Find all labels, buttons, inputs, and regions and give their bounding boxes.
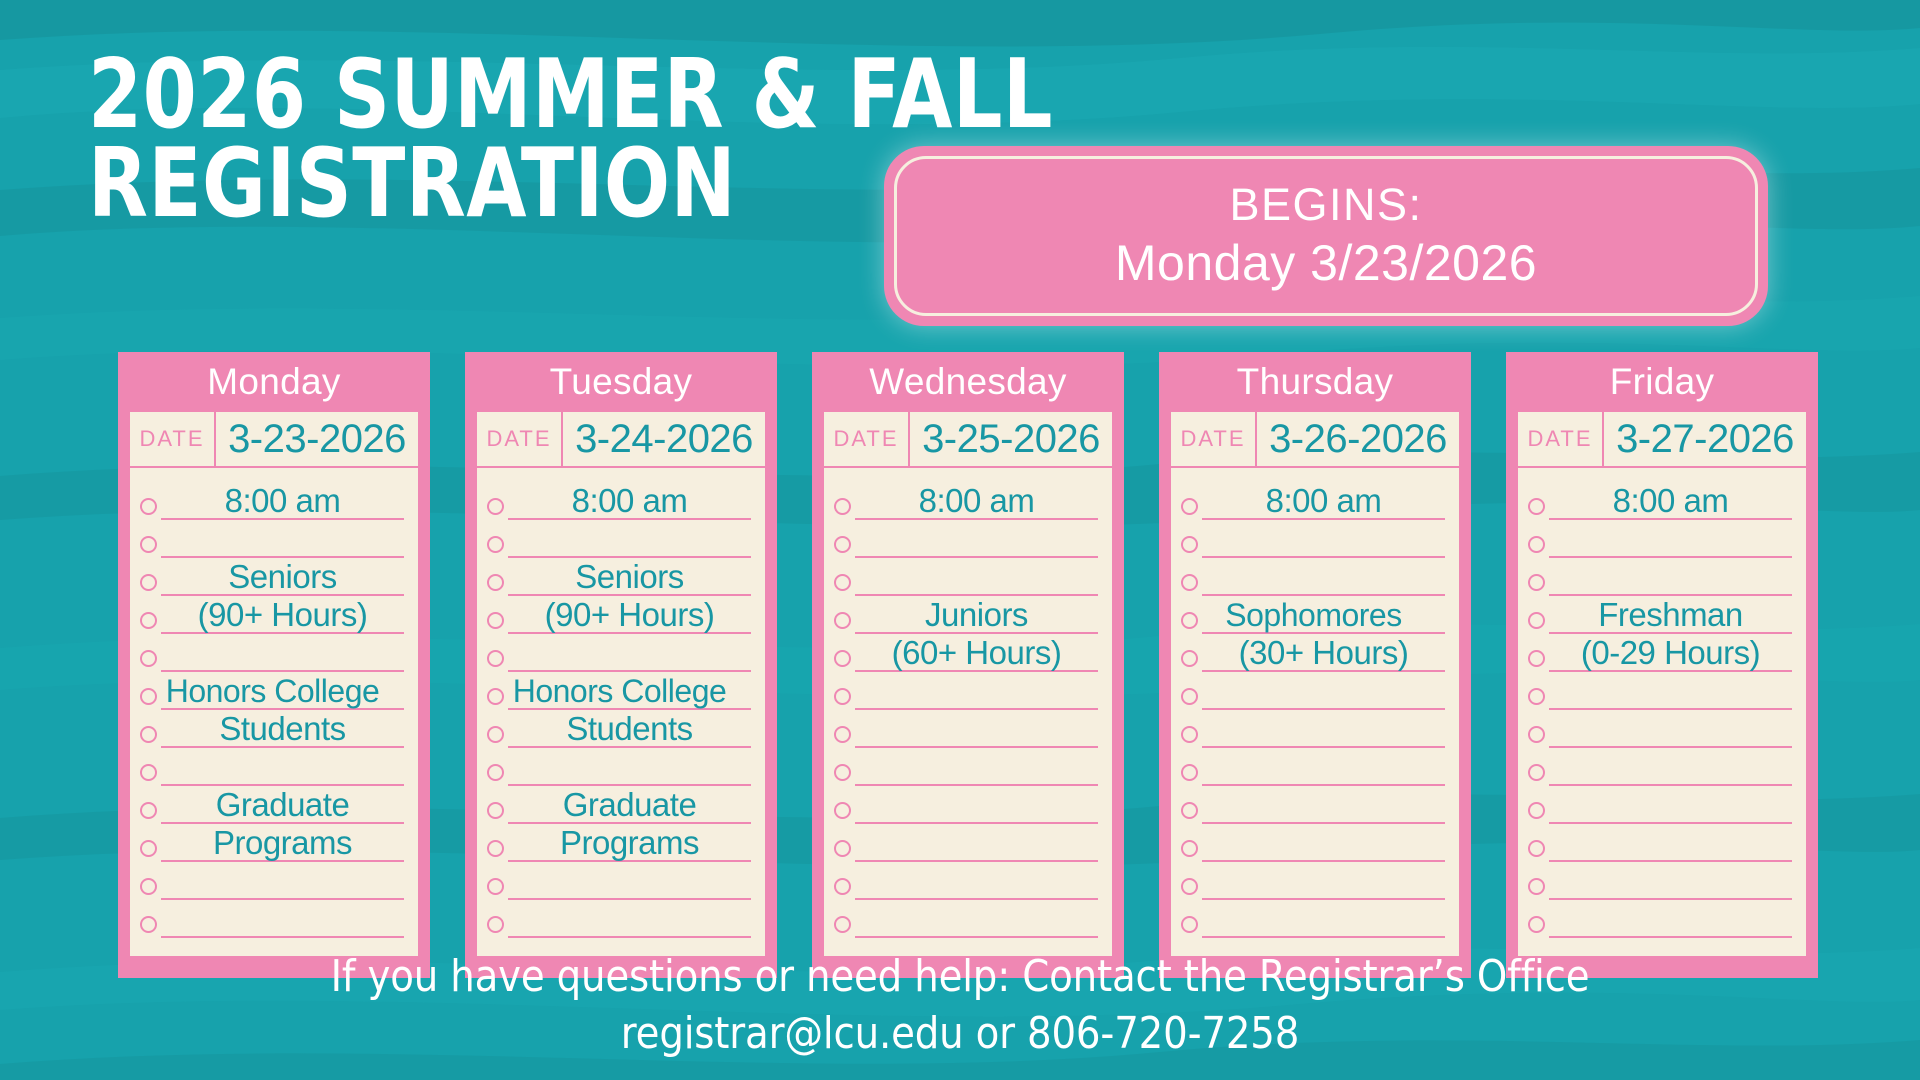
checklist-writing-line xyxy=(161,900,404,938)
day-card-header: Tuesday xyxy=(477,352,765,412)
checklist-row-text: Students xyxy=(508,712,751,745)
checklist-row-text: Seniors xyxy=(508,560,751,593)
checklist-writing-line xyxy=(1549,900,1792,938)
date-value: 3-26-2026 xyxy=(1257,412,1459,466)
checklist-row[interactable] xyxy=(1528,900,1792,938)
checklist-row[interactable] xyxy=(834,862,1098,900)
checklist-writing-line: Honors College xyxy=(161,672,404,710)
checklist-row-text: Graduate xyxy=(161,788,404,821)
checklist-writing-line xyxy=(508,634,751,672)
checklist-row[interactable]: Seniors xyxy=(140,558,404,596)
footer-line-1: If you have questions or need help: Cont… xyxy=(115,948,1805,1005)
checklist: 8:00 amSeniors(90+ Hours)Honors CollegeS… xyxy=(477,468,765,956)
checklist-row-text: (0-29 Hours) xyxy=(1549,636,1792,669)
checklist-row-text: Honors College xyxy=(486,675,753,707)
title-line-1: 2026 SUMMER & FALL xyxy=(88,52,916,139)
checkbox-circle-icon[interactable] xyxy=(1528,536,1545,553)
checklist-row-text: (30+ Hours) xyxy=(1202,636,1445,669)
checklist-row[interactable]: (0-29 Hours) xyxy=(1528,634,1792,672)
checkbox-circle-icon[interactable] xyxy=(140,764,157,781)
checklist: 8:00 amJuniors(60+ Hours) xyxy=(824,468,1112,956)
checkbox-circle-icon[interactable] xyxy=(487,916,504,933)
checklist-row[interactable]: Sophomores xyxy=(1181,596,1445,634)
checklist-row[interactable] xyxy=(834,558,1098,596)
checklist-row[interactable] xyxy=(1528,786,1792,824)
checklist-row-text: 8:00 am xyxy=(1549,484,1792,517)
checklist-row[interactable]: (60+ Hours) xyxy=(834,634,1098,672)
checklist-row[interactable] xyxy=(1181,520,1445,558)
checklist-row[interactable]: Honors College xyxy=(140,672,404,710)
checklist-writing-line xyxy=(1202,824,1445,862)
checklist-row[interactable]: (90+ Hours) xyxy=(140,596,404,634)
checklist-row[interactable]: 8:00 am xyxy=(1181,482,1445,520)
checklist-row[interactable] xyxy=(487,520,751,558)
checklist-row[interactable]: Graduate xyxy=(140,786,404,824)
checklist-row[interactable] xyxy=(834,710,1098,748)
checklist-row[interactable]: (90+ Hours) xyxy=(487,596,751,634)
checklist-row[interactable] xyxy=(1181,786,1445,824)
date-row: DATE3-24-2026 xyxy=(477,412,765,468)
checklist-row-text: 8:00 am xyxy=(161,484,404,517)
checklist-row[interactable]: Students xyxy=(487,710,751,748)
day-card: ThursdayDATE3-26-20268:00 amSophomores(3… xyxy=(1159,352,1471,978)
checklist-row[interactable]: Seniors xyxy=(487,558,751,596)
checklist-writing-line xyxy=(855,710,1098,748)
date-row: DATE3-26-2026 xyxy=(1171,412,1459,468)
checkbox-circle-icon[interactable] xyxy=(1181,650,1198,667)
checklist-row[interactable] xyxy=(834,748,1098,786)
checklist-row[interactable] xyxy=(1528,824,1792,862)
checkbox-circle-icon[interactable] xyxy=(834,650,851,667)
checklist-writing-line xyxy=(1202,862,1445,900)
checklist-row[interactable]: 8:00 am xyxy=(1528,482,1792,520)
checklist-writing-line: Sophomores xyxy=(1202,596,1445,634)
checklist-writing-line: (0-29 Hours) xyxy=(1549,634,1792,672)
checklist-writing-line xyxy=(1549,748,1792,786)
checklist-row[interactable] xyxy=(834,520,1098,558)
poster-title: 2026 SUMMER & FALL REGISTRATION xyxy=(88,52,1098,229)
day-card-header: Wednesday xyxy=(824,352,1112,412)
checkbox-circle-icon[interactable] xyxy=(1528,802,1545,819)
checklist-row[interactable] xyxy=(1528,748,1792,786)
checklist-row[interactable] xyxy=(834,900,1098,938)
checkbox-circle-icon[interactable] xyxy=(487,840,504,857)
checklist-row[interactable] xyxy=(140,634,404,672)
checkbox-circle-icon[interactable] xyxy=(1528,612,1545,629)
checklist-row-text: Freshman xyxy=(1549,598,1792,631)
checkbox-circle-icon[interactable] xyxy=(1528,650,1545,667)
checklist-writing-line: (60+ Hours) xyxy=(855,634,1098,672)
checklist-writing-line xyxy=(1202,672,1445,710)
checklist-row[interactable]: Graduate xyxy=(487,786,751,824)
checkbox-circle-icon[interactable] xyxy=(1528,840,1545,857)
checklist-row[interactable] xyxy=(487,862,751,900)
checklist-row[interactable] xyxy=(1181,558,1445,596)
date-value: 3-24-2026 xyxy=(563,412,765,466)
checklist-row[interactable] xyxy=(487,634,751,672)
date-row: DATE3-23-2026 xyxy=(130,412,418,468)
checklist-row[interactable]: Honors College xyxy=(487,672,751,710)
checklist-row-text: 8:00 am xyxy=(1202,484,1445,517)
checklist-writing-line: Graduate xyxy=(508,786,751,824)
day-card: WednesdayDATE3-25-20268:00 amJuniors(60+… xyxy=(812,352,1124,978)
date-row: DATE3-25-2026 xyxy=(824,412,1112,468)
checklist-writing-line xyxy=(161,520,404,558)
checklist-writing-line xyxy=(855,672,1098,710)
checklist: 8:00 amSeniors(90+ Hours)Honors CollegeS… xyxy=(130,468,418,956)
checkbox-circle-icon[interactable] xyxy=(1181,840,1198,857)
checkbox-circle-icon[interactable] xyxy=(834,574,851,591)
checklist-writing-line: (30+ Hours) xyxy=(1202,634,1445,672)
checklist-writing-line xyxy=(161,748,404,786)
checkbox-circle-icon[interactable] xyxy=(140,612,157,629)
checklist-writing-line xyxy=(1549,558,1792,596)
checkbox-circle-icon[interactable] xyxy=(140,726,157,743)
checklist-writing-line: Seniors xyxy=(161,558,404,596)
checkbox-circle-icon[interactable] xyxy=(1528,574,1545,591)
checklist-row[interactable] xyxy=(1528,710,1792,748)
checklist-writing-line: Graduate xyxy=(161,786,404,824)
date-label: DATE xyxy=(1518,412,1604,466)
checklist-writing-line xyxy=(1549,672,1792,710)
checklist-row-text: Juniors xyxy=(855,598,1098,631)
checkbox-circle-icon[interactable] xyxy=(834,878,851,895)
checklist-row[interactable]: Juniors xyxy=(834,596,1098,634)
checkbox-circle-icon[interactable] xyxy=(834,536,851,553)
checklist-writing-line: 8:00 am xyxy=(1202,482,1445,520)
checkbox-circle-icon[interactable] xyxy=(1181,878,1198,895)
checklist-writing-line xyxy=(1202,900,1445,938)
checklist-writing-line xyxy=(855,824,1098,862)
checklist-row[interactable]: 8:00 am xyxy=(834,482,1098,520)
checkbox-circle-icon[interactable] xyxy=(140,840,157,857)
checklist: 8:00 amFreshman(0-29 Hours) xyxy=(1518,468,1806,956)
day-card: MondayDATE3-23-20268:00 amSeniors(90+ Ho… xyxy=(118,352,430,978)
checklist-writing-line xyxy=(1202,786,1445,824)
checklist-row[interactable] xyxy=(140,900,404,938)
checkbox-circle-icon[interactable] xyxy=(1181,726,1198,743)
checklist-writing-line: 8:00 am xyxy=(855,482,1098,520)
checklist-writing-line xyxy=(855,748,1098,786)
checklist-writing-line: Programs xyxy=(508,824,751,862)
checkbox-circle-icon[interactable] xyxy=(834,688,851,705)
begins-label: BEGINS: xyxy=(1229,179,1422,231)
checkbox-circle-icon[interactable] xyxy=(487,878,504,895)
checkbox-circle-icon[interactable] xyxy=(1528,726,1545,743)
checklist-row[interactable] xyxy=(1528,672,1792,710)
checklist-writing-line xyxy=(508,862,751,900)
checklist-row[interactable]: (30+ Hours) xyxy=(1181,634,1445,672)
day-cards-row: MondayDATE3-23-20268:00 amSeniors(90+ Ho… xyxy=(118,352,1818,978)
checkbox-circle-icon[interactable] xyxy=(834,764,851,781)
date-row: DATE3-27-2026 xyxy=(1518,412,1806,468)
checklist-writing-line xyxy=(855,786,1098,824)
checklist-row[interactable]: Students xyxy=(140,710,404,748)
checkbox-circle-icon[interactable] xyxy=(1181,802,1198,819)
checklist-row[interactable] xyxy=(834,786,1098,824)
checkbox-circle-icon[interactable] xyxy=(140,650,157,667)
checklist-writing-line xyxy=(1549,862,1792,900)
checkbox-circle-icon[interactable] xyxy=(140,536,157,553)
checklist-row-text: 8:00 am xyxy=(508,484,751,517)
checkbox-circle-icon[interactable] xyxy=(140,574,157,591)
checklist-row-text: (90+ Hours) xyxy=(508,598,751,631)
checkbox-circle-icon[interactable] xyxy=(140,498,157,515)
checklist-writing-line: (90+ Hours) xyxy=(508,596,751,634)
checklist-writing-line: Freshman xyxy=(1549,596,1792,634)
checklist-writing-line xyxy=(508,748,751,786)
date-label: DATE xyxy=(1171,412,1257,466)
checklist-writing-line xyxy=(161,862,404,900)
checklist-writing-line xyxy=(855,900,1098,938)
checklist-row-text: Programs xyxy=(508,826,751,859)
checklist-writing-line: 8:00 am xyxy=(1549,482,1792,520)
date-label: DATE xyxy=(824,412,910,466)
checklist-writing-line xyxy=(1549,824,1792,862)
checklist-row[interactable] xyxy=(1181,672,1445,710)
checklist-row[interactable] xyxy=(834,672,1098,710)
checkbox-circle-icon[interactable] xyxy=(1181,688,1198,705)
checkbox-circle-icon[interactable] xyxy=(140,916,157,933)
checkbox-circle-icon[interactable] xyxy=(1528,878,1545,895)
checklist-row-text: (90+ Hours) xyxy=(161,598,404,631)
checklist-row-text: Sophomores xyxy=(1180,599,1447,631)
checkbox-circle-icon[interactable] xyxy=(1181,764,1198,781)
checkbox-circle-icon[interactable] xyxy=(1528,688,1545,705)
checklist-writing-line xyxy=(508,900,751,938)
checklist-row[interactable]: 8:00 am xyxy=(140,482,404,520)
checklist-row[interactable] xyxy=(1528,520,1792,558)
checklist-writing-line: Students xyxy=(161,710,404,748)
checklist-row[interactable] xyxy=(834,824,1098,862)
checklist-row[interactable] xyxy=(1181,824,1445,862)
checkbox-circle-icon[interactable] xyxy=(487,802,504,819)
begins-date: Monday 3/23/2026 xyxy=(1115,235,1537,293)
day-card: FridayDATE3-27-20268:00 amFreshman(0-29 … xyxy=(1506,352,1818,978)
checkbox-circle-icon[interactable] xyxy=(140,878,157,895)
checklist-writing-line xyxy=(1549,710,1792,748)
checklist-row-text: Graduate xyxy=(508,788,751,821)
checklist-row[interactable] xyxy=(1181,862,1445,900)
checkbox-circle-icon[interactable] xyxy=(834,916,851,933)
checkbox-circle-icon[interactable] xyxy=(487,574,504,591)
day-card-header: Thursday xyxy=(1171,352,1459,412)
checkbox-circle-icon[interactable] xyxy=(487,498,504,515)
checklist-writing-line xyxy=(1549,520,1792,558)
checkbox-circle-icon[interactable] xyxy=(140,802,157,819)
checklist: 8:00 amSophomores(30+ Hours) xyxy=(1171,468,1459,956)
date-label: DATE xyxy=(477,412,563,466)
title-line-2: REGISTRATION xyxy=(88,141,916,228)
checkbox-circle-icon[interactable] xyxy=(834,802,851,819)
checkbox-circle-icon[interactable] xyxy=(487,726,504,743)
date-value: 3-27-2026 xyxy=(1604,412,1806,466)
checkbox-circle-icon[interactable] xyxy=(1181,498,1198,515)
checkbox-circle-icon[interactable] xyxy=(1181,574,1198,591)
checklist-row-text: Seniors xyxy=(161,560,404,593)
checklist-writing-line: (90+ Hours) xyxy=(161,596,404,634)
checkbox-circle-icon[interactable] xyxy=(487,612,504,629)
day-card-header: Monday xyxy=(130,352,418,412)
checklist-row[interactable]: 8:00 am xyxy=(487,482,751,520)
checklist-writing-line xyxy=(1202,558,1445,596)
checkbox-circle-icon[interactable] xyxy=(487,650,504,667)
checkbox-circle-icon[interactable] xyxy=(1528,916,1545,933)
day-card: TuesdayDATE3-24-20268:00 amSeniors(90+ H… xyxy=(465,352,777,978)
checkbox-circle-icon[interactable] xyxy=(834,840,851,857)
checkbox-circle-icon[interactable] xyxy=(1528,498,1545,515)
checklist-row[interactable] xyxy=(1181,900,1445,938)
checklist-row[interactable]: Programs xyxy=(487,824,751,862)
checkbox-circle-icon[interactable] xyxy=(834,498,851,515)
checklist-writing-line xyxy=(161,634,404,672)
checkbox-circle-icon[interactable] xyxy=(1181,536,1198,553)
checklist-row-text: Honors College xyxy=(139,675,406,707)
checkbox-circle-icon[interactable] xyxy=(834,612,851,629)
checkbox-circle-icon[interactable] xyxy=(1181,916,1198,933)
checklist-row[interactable] xyxy=(1528,862,1792,900)
checklist-writing-line: 8:00 am xyxy=(508,482,751,520)
checklist-writing-line: Students xyxy=(508,710,751,748)
checkbox-circle-icon[interactable] xyxy=(834,726,851,743)
checklist-row[interactable]: Programs xyxy=(140,824,404,862)
checklist-writing-line xyxy=(855,520,1098,558)
checklist-writing-line: Programs xyxy=(161,824,404,862)
date-value: 3-23-2026 xyxy=(216,412,418,466)
checklist-row[interactable] xyxy=(1528,558,1792,596)
checklist-writing-line xyxy=(1202,710,1445,748)
checklist-row[interactable] xyxy=(1181,748,1445,786)
checklist-writing-line xyxy=(855,862,1098,900)
checklist-writing-line xyxy=(508,520,751,558)
checklist-row[interactable] xyxy=(487,748,751,786)
checklist-row[interactable] xyxy=(1181,710,1445,748)
checklist-writing-line xyxy=(855,558,1098,596)
checklist-writing-line xyxy=(1549,786,1792,824)
checklist-row[interactable] xyxy=(140,862,404,900)
checklist-row-text: (60+ Hours) xyxy=(855,636,1098,669)
checklist-writing-line: Seniors xyxy=(508,558,751,596)
date-value: 3-25-2026 xyxy=(910,412,1112,466)
checklist-row[interactable] xyxy=(140,748,404,786)
checklist-row[interactable] xyxy=(140,520,404,558)
checkbox-circle-icon[interactable] xyxy=(487,536,504,553)
checklist-row-text: Students xyxy=(161,712,404,745)
checklist-writing-line: 8:00 am xyxy=(161,482,404,520)
footer-contact: If you have questions or need help: Cont… xyxy=(0,948,1920,1062)
checklist-writing-line xyxy=(1202,748,1445,786)
checklist-row[interactable]: Freshman xyxy=(1528,596,1792,634)
footer-line-2: registrar@lcu.edu or 806-720-7258 xyxy=(115,1005,1805,1062)
poster-canvas: 2026 SUMMER & FALL REGISTRATION BEGINS: … xyxy=(0,0,1920,1080)
day-card-header: Friday xyxy=(1518,352,1806,412)
checkbox-circle-icon[interactable] xyxy=(487,764,504,781)
checkbox-circle-icon[interactable] xyxy=(1528,764,1545,781)
date-label: DATE xyxy=(130,412,216,466)
checklist-row-text: 8:00 am xyxy=(855,484,1098,517)
checklist-writing-line: Juniors xyxy=(855,596,1098,634)
checklist-writing-line xyxy=(1202,520,1445,558)
checklist-writing-line: Honors College xyxy=(508,672,751,710)
checklist-row[interactable] xyxy=(487,900,751,938)
checklist-row-text: Programs xyxy=(161,826,404,859)
